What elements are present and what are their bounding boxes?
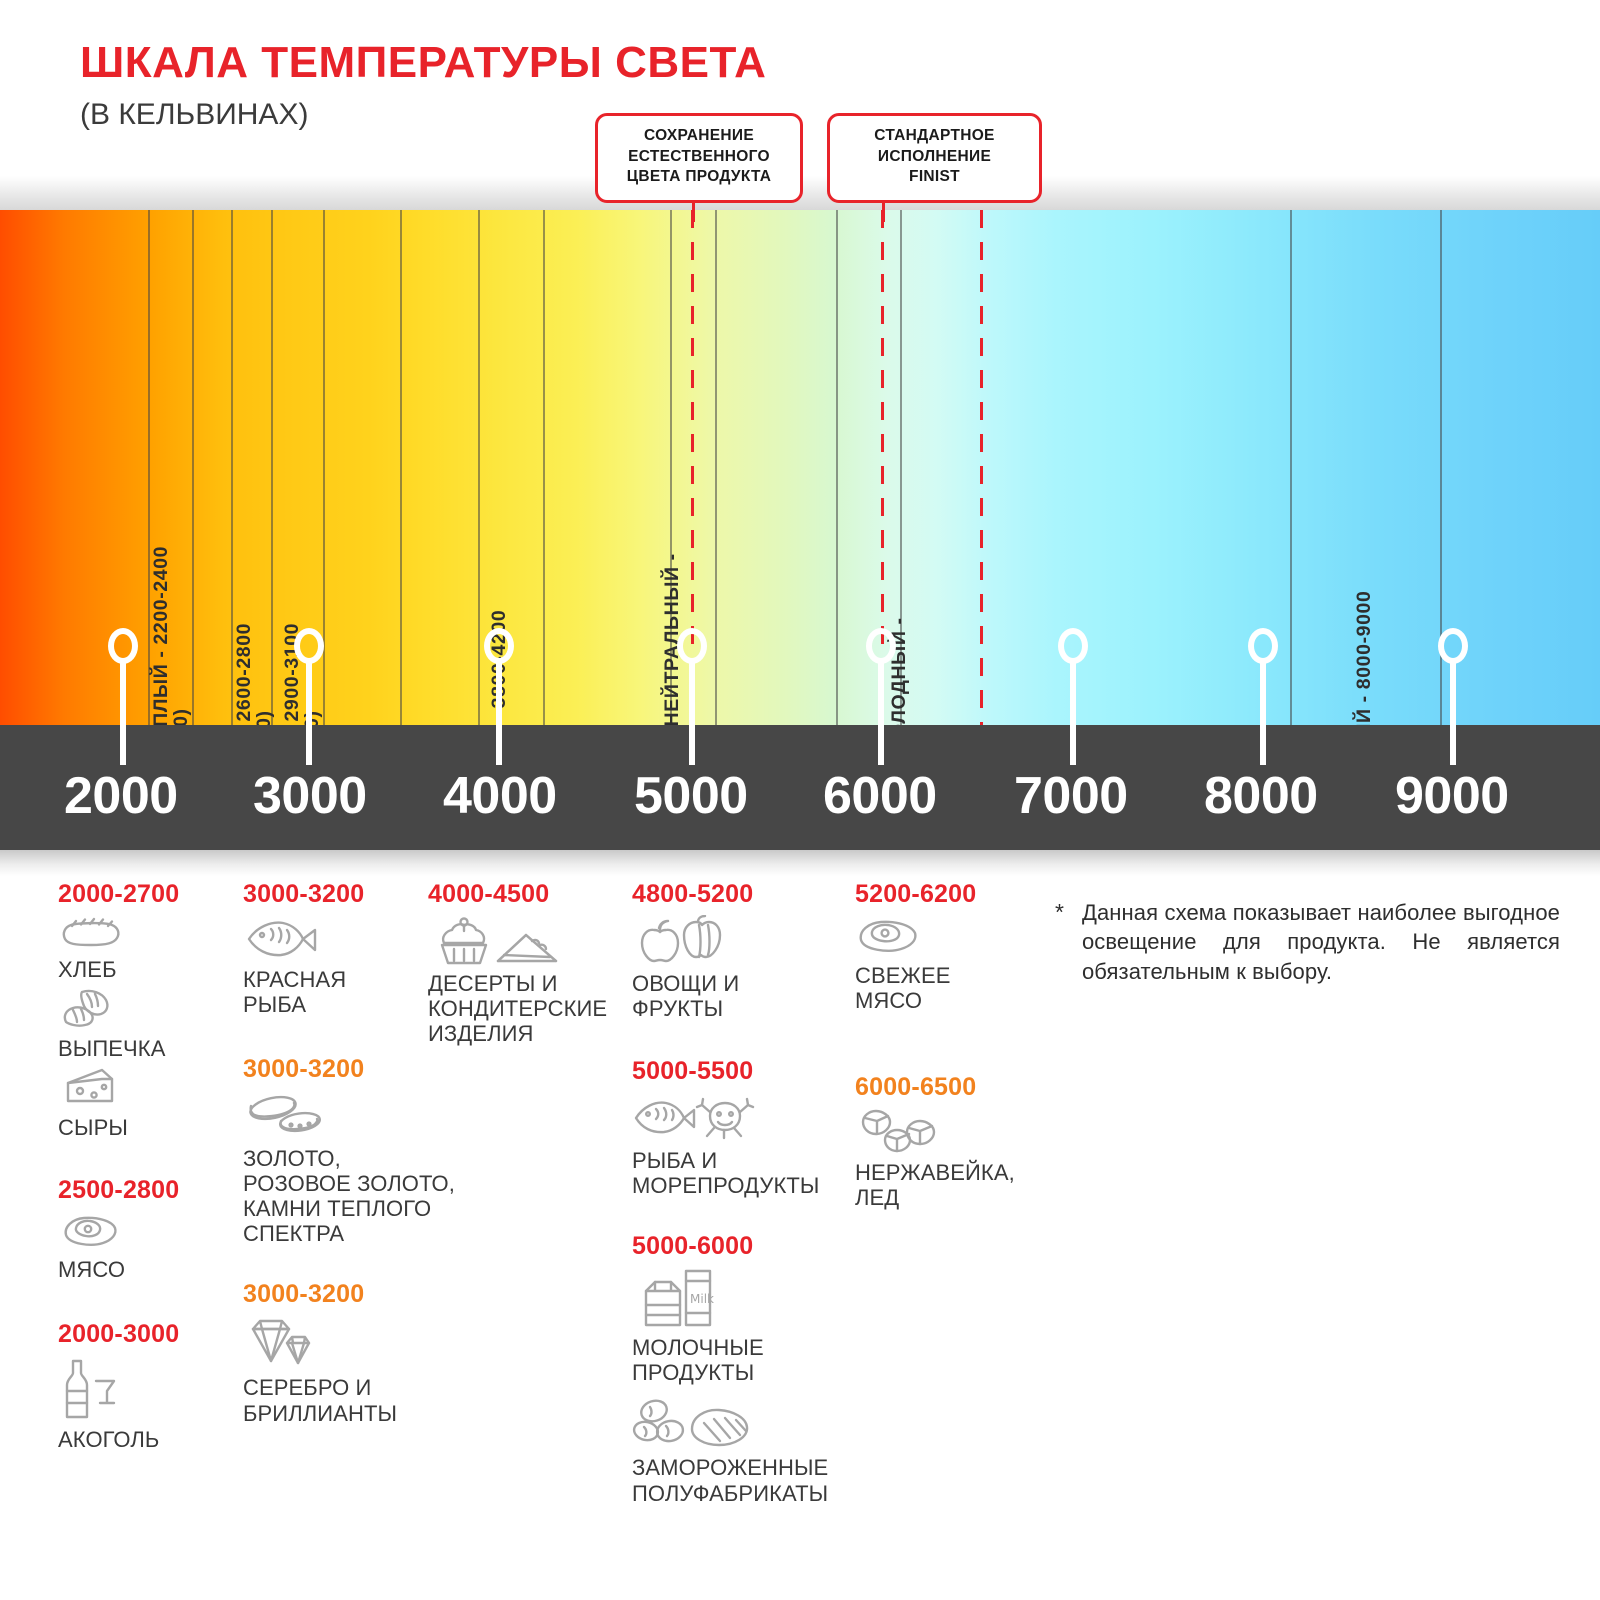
range-label: 5200-6200 bbox=[855, 880, 1045, 909]
legend-group: 2000-2700 ХЛЕБ ВЫПЕЧКА bbox=[58, 880, 233, 1140]
croissant-icon bbox=[58, 986, 233, 1035]
fruit-vegetable-icon bbox=[632, 915, 852, 970]
legend-group: 4800-5200 ОВОЩИ И ФРУКТЫ bbox=[632, 880, 852, 1021]
zone-label-super-warm: СУПЕР ТЕПЛЫЙ - 2200-2400 (тип К 2400) bbox=[152, 458, 191, 725]
callout-standard-finist: СТАНДАРТНОЕ ИСПОЛНЕНИЕ FINIST bbox=[827, 113, 1042, 203]
pin-stick bbox=[306, 660, 312, 765]
zone-divider bbox=[543, 210, 545, 725]
pin-stick bbox=[496, 660, 502, 765]
dessert-cake-icon bbox=[428, 915, 628, 970]
bread-icon bbox=[58, 915, 233, 956]
legend-item: НЕРЖАВЕЙКА, ЛЕД bbox=[855, 1108, 1045, 1210]
legend-column-4: 4800-5200 ОВОЩИ И ФРУКТЫ 5000-5500 РЫБА … bbox=[632, 880, 852, 1510]
pin-head-icon bbox=[1438, 628, 1468, 664]
pin-head-icon bbox=[677, 628, 707, 664]
legend-item: ОВОЩИ И ФРУКТЫ bbox=[632, 915, 852, 1021]
page-title: ШКАЛА ТЕМПЕРАТУРЫ СВЕТА bbox=[80, 38, 766, 88]
product-legend: 2000-2700 ХЛЕБ ВЫПЕЧКА bbox=[0, 880, 1600, 1600]
legend-item: СВЕЖЕЕ МЯСО bbox=[855, 915, 1045, 1013]
range-label: 2500-2800 bbox=[58, 1176, 233, 1205]
zone-divider bbox=[1290, 210, 1292, 725]
zone-label-cold-line1: ХОЛОДНЫЙ - 8000-9000 bbox=[1355, 510, 1375, 725]
diamond-icon bbox=[243, 1315, 483, 1374]
fresh-meat-icon bbox=[855, 915, 1045, 962]
legend-item: СЕРЕБРО И БРИЛЛИАНТЫ bbox=[243, 1315, 483, 1425]
scale-tick-7000: 7000 bbox=[1014, 766, 1128, 826]
scale-tick-3000: 3000 bbox=[253, 766, 367, 826]
legend-item-label: МЯСО bbox=[58, 1257, 233, 1282]
legend-item: ЗОЛОТО, РОЗОВОЕ ЗОЛОТО, КАМНИ ТЕПЛОГО СП… bbox=[243, 1090, 483, 1246]
scalebar-shadow bbox=[0, 850, 1600, 876]
steak-icon bbox=[58, 1211, 233, 1256]
range-label: 2000-3000 bbox=[58, 1320, 233, 1349]
zone-label-warm-2700-line1: ТЕПЛЫЙ - 2600-2800 bbox=[235, 550, 255, 725]
ice-cube-icon bbox=[855, 1108, 1045, 1159]
frozen-food-icon bbox=[632, 1397, 852, 1454]
svg-text:Milk: Milk bbox=[690, 1292, 714, 1306]
legend-group: 5000-5500 РЫБА И МОРЕПРОДУКТЫ bbox=[632, 1057, 852, 1198]
scale-tick-6000: 6000 bbox=[823, 766, 937, 826]
legend-group: 6000-6500 НЕРЖАВЕЙКА, ЛЕД bbox=[855, 1073, 1045, 1210]
legend-group: 2000-3000 АКОГОЛЬ bbox=[58, 1320, 233, 1452]
range-label: 3000-3200 bbox=[243, 1280, 483, 1309]
legend-item: ХЛЕБ bbox=[58, 915, 233, 982]
cheese-icon bbox=[58, 1065, 233, 1114]
pin-stick bbox=[1070, 660, 1076, 765]
callout-natural-line2: ЕСТЕСТВЕННОГО bbox=[612, 147, 786, 168]
callout-standard-line1: СТАНДАРТНОЕ bbox=[844, 126, 1025, 147]
footnote-star: * bbox=[1055, 898, 1064, 986]
scale-tick-4000: 4000 bbox=[443, 766, 557, 826]
pin-head-icon bbox=[1248, 628, 1278, 664]
legend-item-label: НЕРЖАВЕЙКА, ЛЕД bbox=[855, 1160, 1045, 1210]
zone-label-super-warm-line2: (тип К 2400) bbox=[172, 458, 192, 725]
legend-item-label: ОВОЩИ И ФРУКТЫ bbox=[632, 971, 852, 1021]
milk-carton-icon: Milk bbox=[632, 1267, 852, 1334]
legend-item-label: ХЛЕБ bbox=[58, 957, 233, 982]
zone-label-white-cold-line2: 5800-6500 bbox=[910, 520, 930, 725]
callout-natural-line1: СОХРАНЕНИЕ bbox=[612, 126, 786, 147]
zone-divider bbox=[715, 210, 717, 725]
range-label: 6000-6500 bbox=[855, 1073, 1045, 1102]
legend-item: СЫРЫ bbox=[58, 1065, 233, 1140]
pin-stick bbox=[120, 660, 126, 765]
zone-divider bbox=[400, 210, 402, 725]
marker-standard-end bbox=[980, 210, 983, 725]
legend-item-label: МОЛОЧНЫЕ ПРОДУКТЫ bbox=[632, 1335, 852, 1385]
legend-group: 5200-6200 СВЕЖЕЕ МЯСО bbox=[855, 880, 1045, 1013]
alcohol-icon bbox=[58, 1355, 233, 1426]
zone-divider bbox=[836, 210, 838, 725]
legend-column-5: 5200-6200 СВЕЖЕЕ МЯСО 6000-6500 НЕРЖАВЕЙ… bbox=[855, 880, 1045, 1214]
pin-stick bbox=[1450, 660, 1456, 765]
legend-item: РЫБА И МОРЕПРОДУКТЫ bbox=[632, 1092, 852, 1198]
legend-item: ВЫПЕЧКА bbox=[58, 986, 233, 1061]
legend-group: 3000-3200 СЕРЕБРО И БРИЛЛИАНТЫ bbox=[243, 1280, 483, 1425]
range-label: 4800-5200 bbox=[632, 880, 852, 909]
legend-item: АКОГОЛЬ bbox=[58, 1355, 233, 1452]
range-label: 2000-2700 bbox=[58, 880, 233, 909]
legend-group: 4000-4500 ДЕСЕРТЫ И КОНДИТЕРСКИЕ ИЗДЕЛИЯ bbox=[428, 880, 628, 1046]
legend-item: ДЕСЕРТЫ И КОНДИТЕРСКИЕ ИЗДЕЛИЯ bbox=[428, 915, 628, 1046]
legend-item-label: ЗОЛОТО, РОЗОВОЕ ЗОЛОТО, КАМНИ ТЕПЛОГО СП… bbox=[243, 1146, 483, 1246]
color-temperature-band: СУПЕР ТЕПЛЫЙ - 2200-2400 (тип К 2400) ТЕ… bbox=[0, 210, 1600, 725]
range-label: 5000-6000 bbox=[632, 1232, 852, 1261]
pin-head-icon bbox=[294, 628, 324, 664]
legend-column-1: 2000-2700 ХЛЕБ ВЫПЕЧКА bbox=[58, 880, 233, 1456]
zone-label-white-cold: БЕЛЫЙ ХОЛОДНЫЙ - 5800-6500 bbox=[890, 520, 929, 725]
pin-stick bbox=[1260, 660, 1266, 765]
legend-item-label: ЗАМОРОЖЕННЫЕ ПОЛУФАБРИКАТЫ bbox=[632, 1455, 852, 1505]
legend-group: 3000-3200 ЗОЛОТО, РОЗОВОЕ ЗОЛОТО, КАМНИ … bbox=[243, 1055, 483, 1246]
range-label: 3000-3200 bbox=[243, 1055, 483, 1084]
zone-label-daylight-neutral-line1: ДНЕВНОЙ НЕЙТРАЛЬНЫЙ - bbox=[663, 450, 683, 725]
gold-rings-icon bbox=[243, 1090, 483, 1145]
pin-head-icon bbox=[484, 628, 514, 664]
scale-tick-2000: 2000 bbox=[64, 766, 178, 826]
scale-tick-9000: 9000 bbox=[1395, 766, 1509, 826]
legend-item-label: ДЕСЕРТЫ И КОНДИТЕРСКИЕ ИЗДЕЛИЯ bbox=[428, 971, 628, 1046]
zone-divider bbox=[478, 210, 480, 725]
page-subtitle: (В КЕЛЬВИНАХ) bbox=[80, 98, 308, 132]
legend-column-3: 4000-4500 ДЕСЕРТЫ И КОНДИТЕРСКИЕ ИЗДЕЛИЯ bbox=[428, 880, 628, 1050]
callout-natural-line3: ЦВЕТА ПРОДУКТА bbox=[612, 167, 786, 188]
pin-head-icon bbox=[866, 628, 896, 664]
legend-item-label: СЕРЕБРО И БРИЛЛИАНТЫ bbox=[243, 1375, 483, 1425]
zone-label-super-warm-line1: СУПЕР ТЕПЛЫЙ - 2200-2400 bbox=[152, 458, 172, 725]
legend-item-label: ВЫПЕЧКА bbox=[58, 1036, 233, 1061]
zone-label-daylight-neutral: ДНЕВНОЙ НЕЙТРАЛЬНЫЙ - 4800-5200 bbox=[663, 450, 702, 725]
callout-natural-color: СОХРАНЕНИЕ ЕСТЕСТВЕННОГО ЦВЕТА ПРОДУКТА bbox=[595, 113, 803, 203]
legend-group: 2500-2800 МЯСО bbox=[58, 1176, 233, 1282]
legend-item-label: АКОГОЛЬ bbox=[58, 1427, 233, 1452]
legend-group: 5000-6000 Milk МОЛОЧНЫЕ ПРОДУКТЫ ЗАМОРОЖ… bbox=[632, 1232, 852, 1505]
pin-head-icon bbox=[108, 628, 138, 664]
zone-label-warm-2700: ТЕПЛЫЙ - 2600-2800 (тип К 2700) bbox=[235, 550, 274, 725]
legend-item: Milk МОЛОЧНЫЕ ПРОДУКТЫ bbox=[632, 1267, 852, 1385]
legend-item-label: СЫРЫ bbox=[58, 1115, 233, 1140]
legend-item: ЗАМОРОЖЕННЫЕ ПОЛУФАБРИКАТЫ bbox=[632, 1397, 852, 1505]
pin-head-icon bbox=[1058, 628, 1088, 664]
pin-stick bbox=[689, 660, 695, 765]
range-label: 4000-4500 bbox=[428, 880, 628, 909]
scale-tick-8000: 8000 bbox=[1204, 766, 1318, 826]
footnote: * Данная схема показывает наиболее выгод… bbox=[1055, 898, 1560, 986]
callout-standard-line2: ИСПОЛНЕНИЕ bbox=[844, 147, 1025, 168]
pin-stick bbox=[878, 660, 884, 765]
range-label: 5000-5500 bbox=[632, 1057, 852, 1086]
zone-divider bbox=[192, 210, 194, 725]
scale-tick-5000: 5000 bbox=[634, 766, 748, 826]
legend-item-label: РЫБА И МОРЕПРОДУКТЫ bbox=[632, 1148, 852, 1198]
fish-crab-icon bbox=[632, 1092, 852, 1147]
zone-label-white-cold-line1: БЕЛЫЙ ХОЛОДНЫЙ - bbox=[890, 520, 910, 725]
legend-item-label: СВЕЖЕЕ МЯСО bbox=[855, 963, 1045, 1013]
footnote-text: Данная схема показывает наиболее выгодно… bbox=[1082, 898, 1560, 986]
zone-label-warm-2700-line2: (тип К 2700) bbox=[255, 550, 275, 725]
legend-item: МЯСО bbox=[58, 1211, 233, 1282]
callout-standard-line3: FINIST bbox=[844, 167, 1025, 188]
kelvin-scale-bar bbox=[0, 725, 1600, 850]
zone-label-cold: ХОЛОДНЫЙ - 8000-9000 bbox=[1355, 510, 1375, 725]
infographic-page: ШКАЛА ТЕМПЕРАТУРЫ СВЕТА (В КЕЛЬВИНАХ) СО… bbox=[0, 0, 1600, 1600]
